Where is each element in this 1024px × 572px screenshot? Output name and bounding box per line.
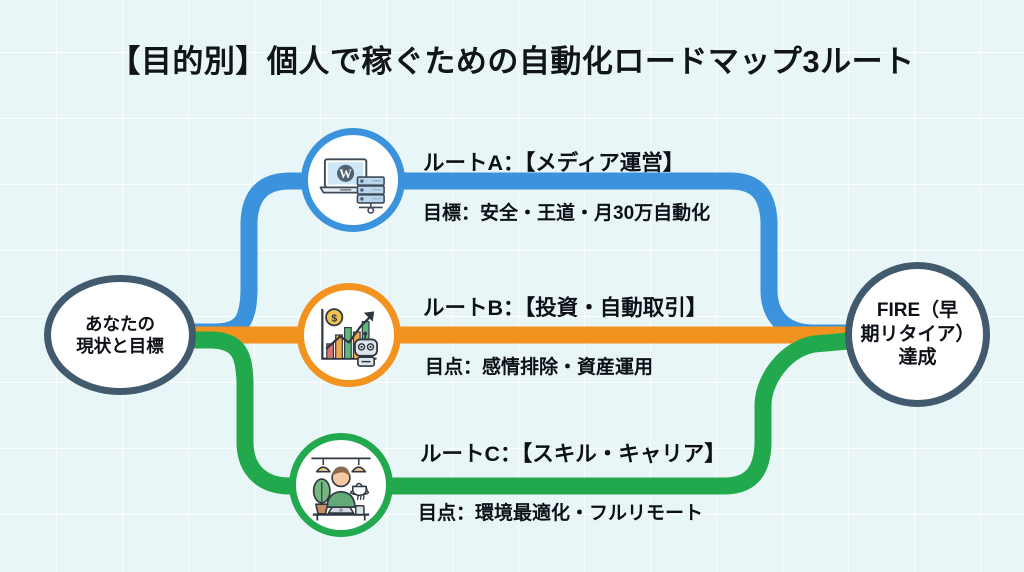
route-a-icon-circle[interactable]: W xyxy=(301,128,405,232)
route-b-icon-circle[interactable]: $ xyxy=(297,283,401,387)
chart-robot-trading-icon: $ xyxy=(312,298,386,372)
route-b-title: ルートB：【投資・自動取引】 xyxy=(423,291,707,322)
route-c-icon-circle[interactable] xyxy=(289,433,393,537)
wordpress-laptop-server-icon: W xyxy=(316,143,390,217)
route-a-title: ルートA：【メディア運営】 xyxy=(423,146,684,177)
node-fire-goal[interactable]: FIRE（早 期リタイア） 達成 xyxy=(845,262,990,407)
node-goal-line1: FIRE（早 xyxy=(860,299,974,323)
route-c-subtitle: 目点：環境最適化・フルリモート xyxy=(418,498,703,525)
node-current-status[interactable]: あなたの 現状と目標 xyxy=(44,275,196,395)
svg-text:W: W xyxy=(339,167,352,181)
page-title: 【目的別】個人で稼ぐための自動化ロードマップ3ルート xyxy=(0,36,1024,81)
route-b-subtitle: 目点：感情排除・資産運用 xyxy=(425,352,653,379)
edge-route-c-left xyxy=(190,340,300,486)
edge-route-a-left xyxy=(192,181,310,332)
route-a-subtitle: 目標：安全・王道・月30万自動化 xyxy=(423,198,710,225)
node-goal-line3: 達成 xyxy=(860,346,974,370)
infographic-canvas: 【目的別】個人で稼ぐための自動化ロードマップ3ルート あなたの 現状と目標 FI… xyxy=(0,0,1024,572)
svg-text:$: $ xyxy=(331,314,337,325)
route-c-title: ルートC：【スキル・キャリア】 xyxy=(420,437,726,468)
node-start-line1: あなたの xyxy=(76,313,164,335)
node-goal-line2: 期リタイア） xyxy=(860,323,974,347)
remote-worker-desk-icon xyxy=(304,448,378,522)
node-start-line2: 現状と目標 xyxy=(76,335,164,357)
